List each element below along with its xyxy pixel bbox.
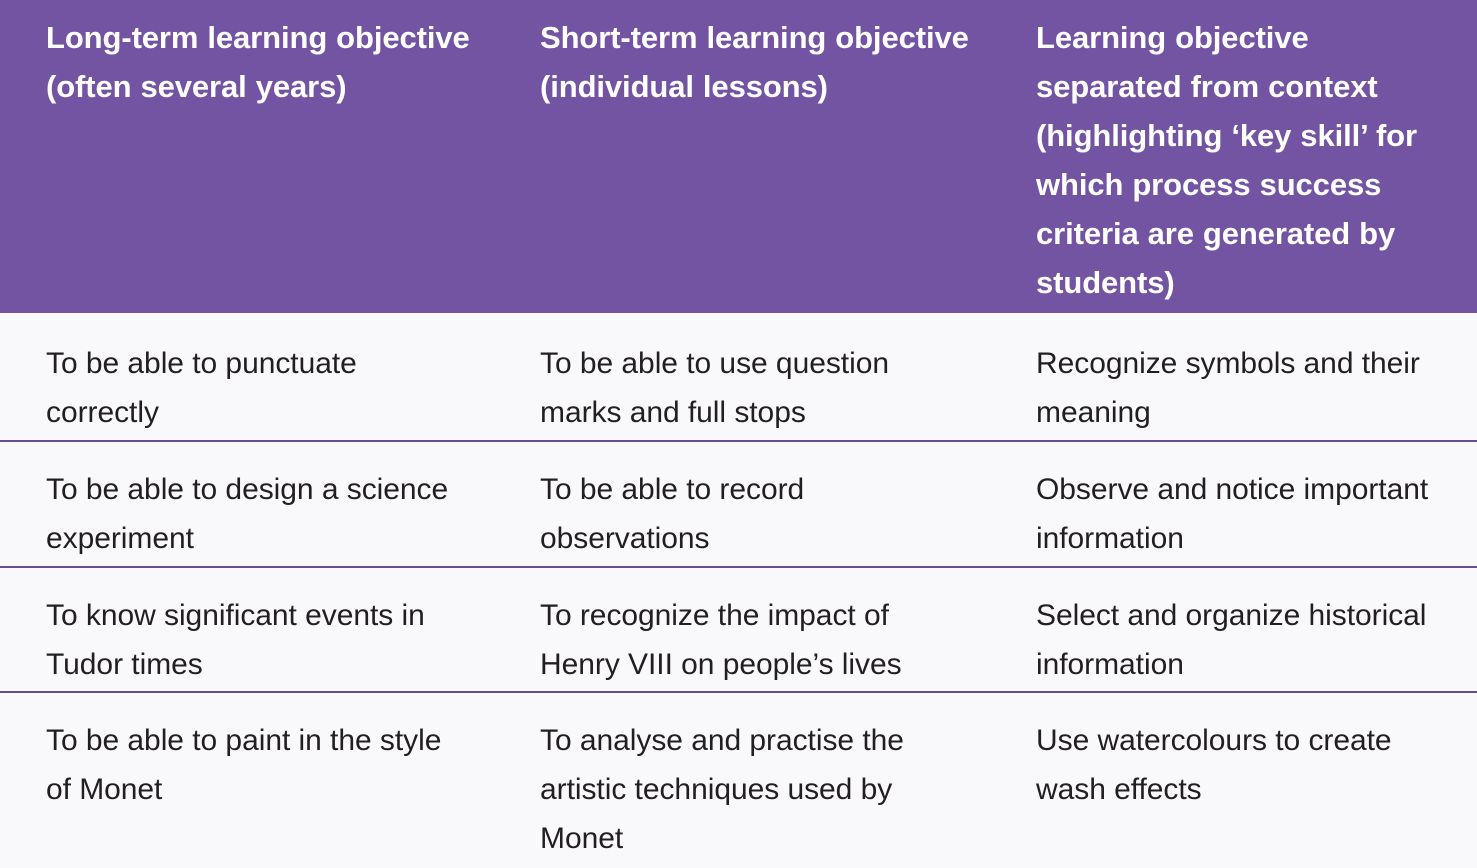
cell-key-skill: Use watercolours to create wash effects bbox=[989, 717, 1477, 815]
cell-long-term-objective: To be able to punctuate correctly bbox=[0, 340, 494, 438]
column-header-short-term-learning-objective: Short-term learning objective (individua… bbox=[494, 14, 989, 112]
cell-short-term-objective: To recognize the impact of Henry VIII on… bbox=[494, 592, 989, 690]
cell-key-skill: Recognize symbols and their meaning bbox=[989, 340, 1477, 438]
table-row: To be able to punctuate correctly To be … bbox=[0, 313, 1477, 442]
cell-short-term-objective: To analyse and practise the artistic tec… bbox=[494, 717, 989, 864]
table-body: To be able to punctuate correctly To be … bbox=[0, 313, 1477, 868]
cell-long-term-objective: To know significant events in Tudor time… bbox=[0, 592, 494, 690]
cell-long-term-objective: To be able to design a science experimen… bbox=[0, 466, 494, 564]
cell-key-skill: Select and organize historical informati… bbox=[989, 592, 1477, 690]
table-row: To be able to paint in the style of Mone… bbox=[0, 693, 1477, 868]
column-header-long-term-learning-objective: Long-term learning objective (often seve… bbox=[0, 14, 494, 112]
table-header-row: Long-term learning objective (often seve… bbox=[0, 0, 1477, 313]
table-row: To know significant events in Tudor time… bbox=[0, 568, 1477, 693]
column-header-learning-objective-separated-from-context: Learning objective separated from contex… bbox=[989, 14, 1477, 308]
cell-key-skill: Observe and notice important information bbox=[989, 466, 1477, 564]
learning-objectives-table: Long-term learning objective (often seve… bbox=[0, 0, 1477, 868]
cell-short-term-objective: To be able to use question marks and ful… bbox=[494, 340, 989, 438]
cell-short-term-objective: To be able to record observations bbox=[494, 466, 989, 564]
table-row: To be able to design a science experimen… bbox=[0, 442, 1477, 568]
cell-long-term-objective: To be able to paint in the style of Mone… bbox=[0, 717, 494, 815]
